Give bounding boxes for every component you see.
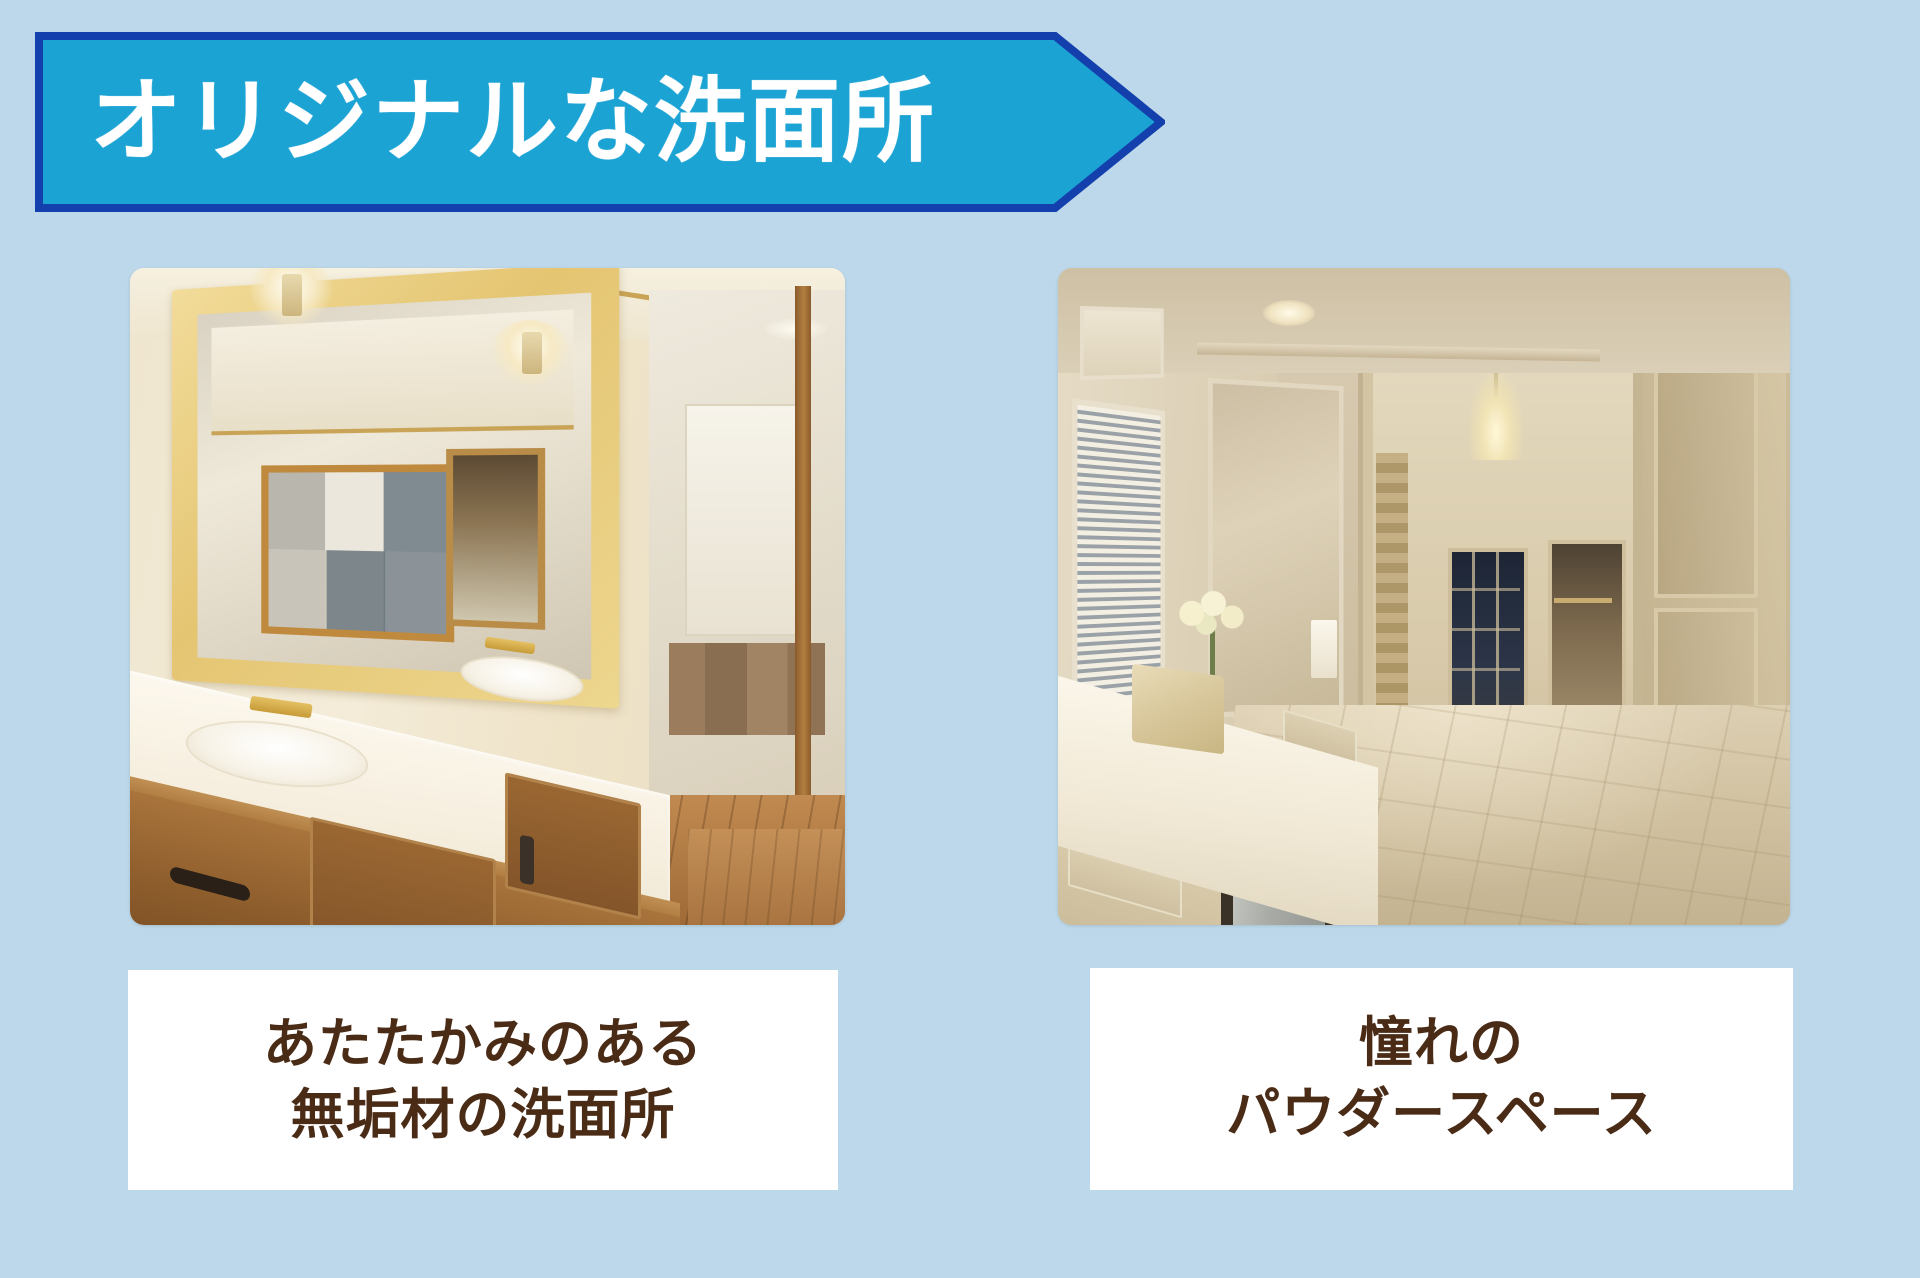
wood-floor-doorway (688, 829, 845, 925)
chandelier (1468, 368, 1524, 460)
caption-right-line-2: パウダースペース (1226, 1079, 1657, 1150)
washroom-photo-left (130, 268, 845, 925)
powder-space-photo-right (1058, 268, 1790, 925)
mirror-reflection-tile (262, 464, 455, 643)
caption-box-left: あたたかみのある 無垢材の洗面所 (128, 970, 838, 1190)
closet-rod (1554, 598, 1612, 603)
upper-cabinet-panel (1080, 306, 1164, 380)
doorway-panel (685, 404, 805, 636)
mirror-reflection-door (446, 448, 544, 629)
caption-right-line-1: 憧れの (1359, 1008, 1524, 1079)
photo-card-right (1058, 268, 1790, 925)
header-banner: オリジナルな洗面所 (35, 32, 1165, 212)
caption-left-line-1: あたたかみのある (263, 1009, 703, 1080)
flower-bouquet (1176, 590, 1248, 642)
photo-card-left (130, 268, 845, 925)
wall-sconce-fixture-2 (522, 332, 542, 374)
door-frame (795, 286, 811, 876)
towel-roll (1311, 620, 1337, 678)
caption-box-right: 憧れの パウダースペース (1090, 968, 1793, 1190)
page-title: オリジナルな洗面所 (90, 32, 936, 212)
open-doorway (649, 290, 845, 860)
caption-left-line-2: 無垢材の洗面所 (291, 1080, 676, 1151)
tissue-box (1132, 664, 1224, 755)
slide-root: オリジナルな洗面所 (0, 0, 1920, 1278)
wall-sconce-fixture-1 (282, 274, 302, 316)
recessed-ceiling-light (1263, 300, 1315, 326)
cabinet-latch (520, 835, 534, 885)
